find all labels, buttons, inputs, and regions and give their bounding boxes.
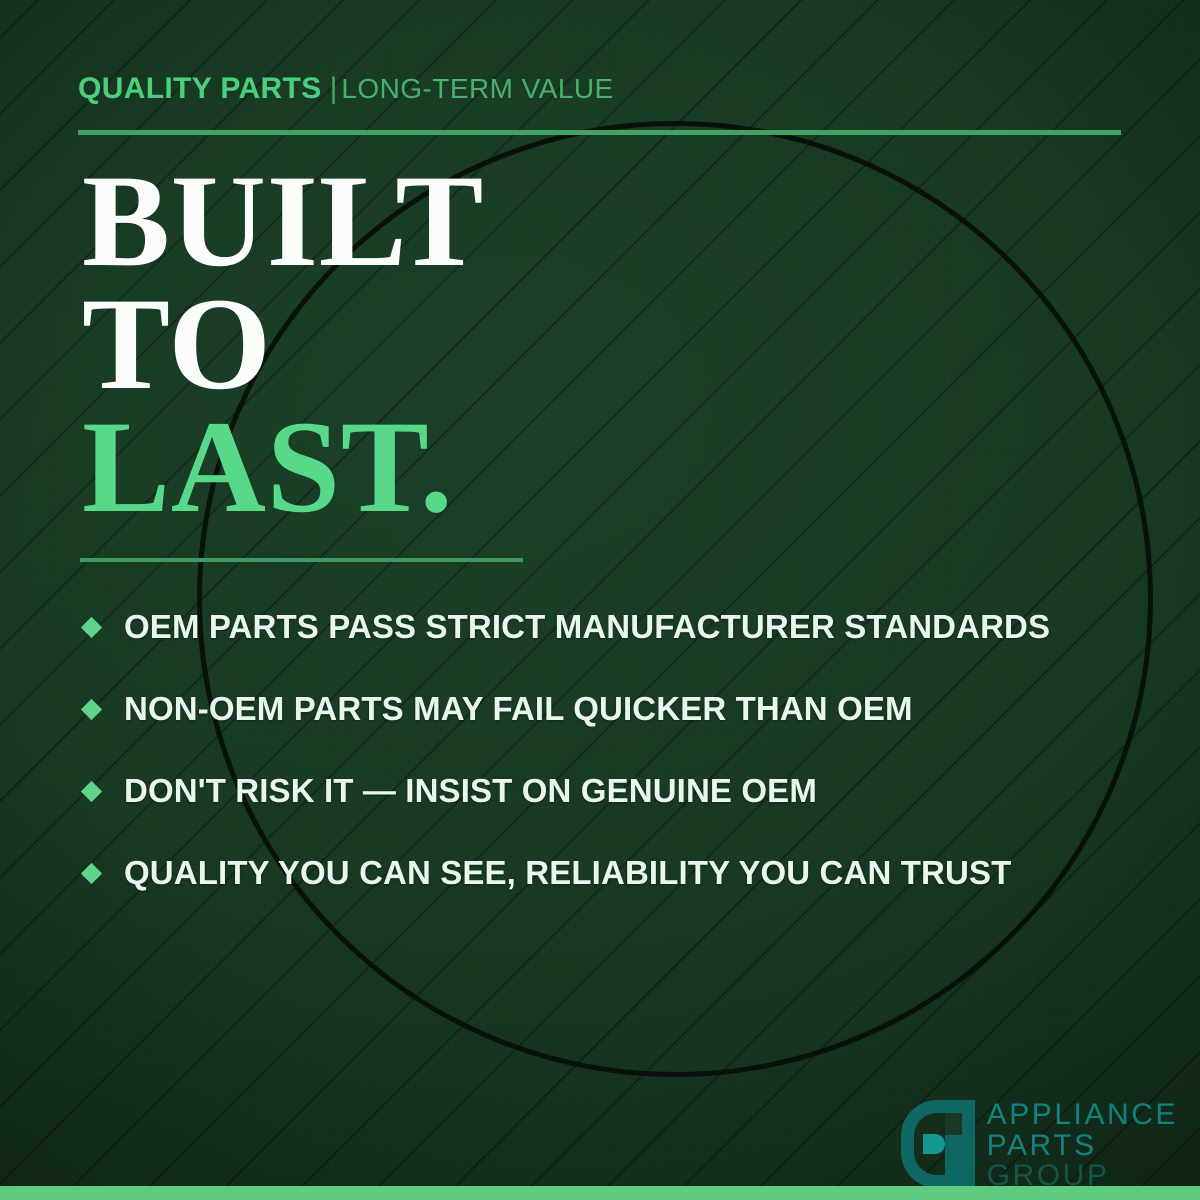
diamond-bullet-icon (81, 780, 102, 801)
diamond-bullet-icon (81, 616, 102, 637)
eyebrow-strong-text: QUALITY PARTS (78, 72, 322, 105)
brand-logo-wordmark: APPLIANCE PARTS GROUP (987, 1096, 1178, 1192)
list-item-label: QUALITY YOU CAN SEE, RELIABILITY YOU CAN… (124, 854, 1011, 892)
headline-line-2: TO (82, 283, 484, 406)
headline-divider-rule (80, 558, 523, 562)
page-title: BUILT TO LAST. (82, 160, 484, 528)
header-divider-rule (78, 130, 1121, 135)
diamond-bullet-icon (81, 698, 102, 719)
eyebrow-light-text: LONG-TERM VALUE (341, 73, 613, 104)
benefits-list: OEM PARTS PASS STRICT MANUFACTURER STAND… (80, 586, 1150, 914)
list-item: QUALITY YOU CAN SEE, RELIABILITY YOU CAN… (80, 832, 1150, 914)
bottom-accent-bar (0, 1186, 1200, 1200)
headline-line-3: LAST. (82, 406, 484, 529)
list-item-label: NON-OEM PARTS MAY FAIL QUICKER THAN OEM (124, 690, 913, 728)
list-item: DON'T RISK IT — INSIST ON GENUINE OEM (80, 750, 1150, 832)
list-item-label: OEM PARTS PASS STRICT MANUFACTURER STAND… (124, 608, 1050, 646)
eyebrow: QUALITY PARTS|LONG-TERM VALUE (78, 74, 614, 104)
g-monogram-icon (901, 1096, 975, 1188)
brand-logo-line-2: PARTS (987, 1131, 1178, 1162)
headline-line-1: BUILT (82, 160, 484, 283)
brand-logo-line-1: APPLIANCE (987, 1100, 1178, 1131)
poster-content: QUALITY PARTS|LONG-TERM VALUE BUILT TO L… (0, 0, 1200, 1200)
brand-logo: APPLIANCE PARTS GROUP (901, 1096, 1178, 1192)
diamond-bullet-icon (81, 862, 102, 883)
list-item-label: DON'T RISK IT — INSIST ON GENUINE OEM (124, 772, 817, 810)
promo-poster: QUALITY PARTS|LONG-TERM VALUE BUILT TO L… (0, 0, 1200, 1200)
list-item: NON-OEM PARTS MAY FAIL QUICKER THAN OEM (80, 668, 1150, 750)
eyebrow-separator: | (330, 72, 338, 105)
list-item: OEM PARTS PASS STRICT MANUFACTURER STAND… (80, 586, 1150, 668)
